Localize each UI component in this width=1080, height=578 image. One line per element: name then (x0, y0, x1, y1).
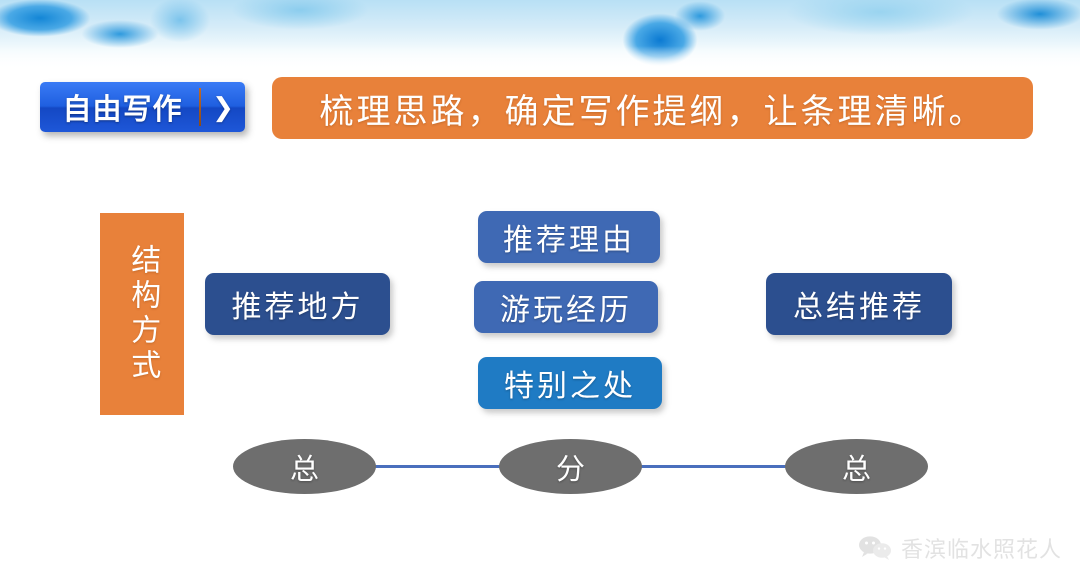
chain-node-zong-1[interactable]: 总 (233, 439, 376, 494)
structure-method-text: 结构方式 (124, 244, 161, 384)
structure-chain: 总 分 总 (0, 430, 1080, 510)
slide-canvas: 自由写作 ❯ 梳理思路，确定写作提纲，让条理清晰。 结构方式 推荐地方 推荐理由… (0, 0, 1080, 578)
header-banner: 梳理思路，确定写作提纲，让条理清晰。 (272, 77, 1033, 139)
chevron-right-icon: ❯ (201, 92, 245, 123)
free-writing-badge[interactable]: 自由写作 ❯ (40, 82, 245, 132)
box-summary-recommend[interactable]: 总结推荐 (766, 273, 952, 335)
wechat-icon (858, 535, 892, 561)
box-recommend-reason[interactable]: 推荐理由 (478, 211, 660, 263)
watermark: 香滨临水照花人 (858, 532, 1062, 564)
box-special-features[interactable]: 特别之处 (478, 357, 662, 409)
box-travel-experience[interactable]: 游玩经历 (474, 281, 658, 333)
chain-connector-1 (370, 465, 510, 468)
chain-node-fen[interactable]: 分 (499, 439, 642, 494)
chain-node-zong-2[interactable]: 总 (785, 439, 928, 494)
structure-method-label: 结构方式 (100, 213, 184, 415)
sky-banner-background (0, 0, 1080, 72)
box-recommend-place[interactable]: 推荐地方 (205, 273, 390, 335)
chain-connector-2 (632, 465, 792, 468)
badge-label: 自由写作 (40, 86, 199, 128)
slide-header: 自由写作 ❯ 梳理思路，确定写作提纲，让条理清晰。 (0, 72, 1080, 152)
watermark-text: 香滨临水照花人 (901, 532, 1062, 564)
header-banner-text: 梳理思路，确定写作提纲，让条理清晰。 (320, 84, 986, 133)
